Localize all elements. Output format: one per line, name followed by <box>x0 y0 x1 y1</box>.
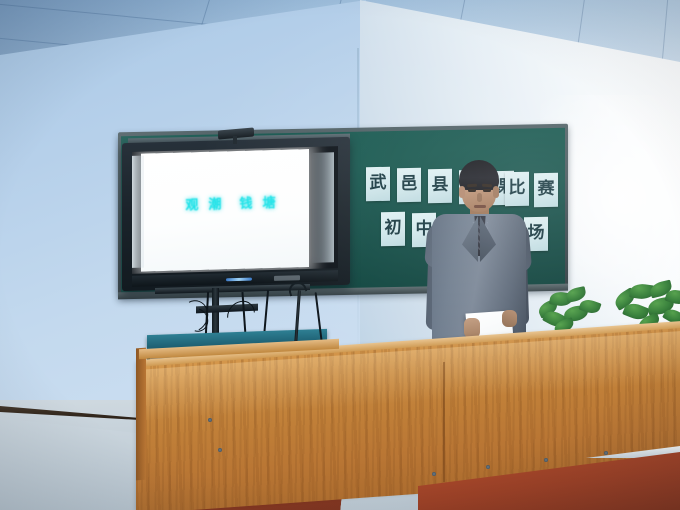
potted-plant-left <box>536 286 606 332</box>
banner-sheet: 武 <box>366 167 390 201</box>
slide-char: 塘 <box>263 192 277 211</box>
screen-glare-left <box>132 156 144 268</box>
stage-bolt <box>208 418 212 422</box>
interactive-whiteboard[interactable]: 观 潮 钱 塘 <box>122 137 350 291</box>
stage-bolt <box>544 458 548 462</box>
left-ear <box>459 186 465 198</box>
slide-char: 钱 <box>240 193 254 212</box>
screen-glare-right <box>312 152 334 263</box>
banner-char: 邑 <box>401 175 418 192</box>
smartboard-screen[interactable]: 观 潮 钱 塘 <box>132 146 338 274</box>
projected-slide: 观 潮 钱 塘 <box>141 149 309 272</box>
banner-char: 武 <box>370 174 387 191</box>
banner-char: 赛 <box>538 180 555 197</box>
mouth <box>474 205 486 208</box>
camera-mount-neck <box>233 136 237 144</box>
right-hand <box>502 310 517 327</box>
classroom-photo-scene: 武 邑 县 讲 课 比 赛 初 中 场 观 潮 钱 塘 <box>0 0 680 510</box>
counter-panel-seam <box>443 362 445 482</box>
presenter <box>418 160 538 350</box>
nose <box>477 193 482 202</box>
slide-char: 潮 <box>208 193 222 212</box>
counter-left-end-cap <box>136 348 146 481</box>
stage-bolt <box>604 451 608 455</box>
right-eye <box>483 189 491 192</box>
brand-logo <box>274 275 300 281</box>
banner-char: 初 <box>385 219 402 236</box>
right-ear <box>493 186 499 198</box>
left-eye <box>468 189 476 192</box>
stage-bolt <box>486 465 490 469</box>
stage-bolt <box>218 448 222 452</box>
hair <box>459 160 499 190</box>
slide-char: 观 <box>185 194 199 213</box>
slide-text: 观 潮 钱 塘 <box>171 191 291 213</box>
stage-bolt <box>432 472 436 476</box>
banner-sheet: 初 <box>381 212 405 246</box>
